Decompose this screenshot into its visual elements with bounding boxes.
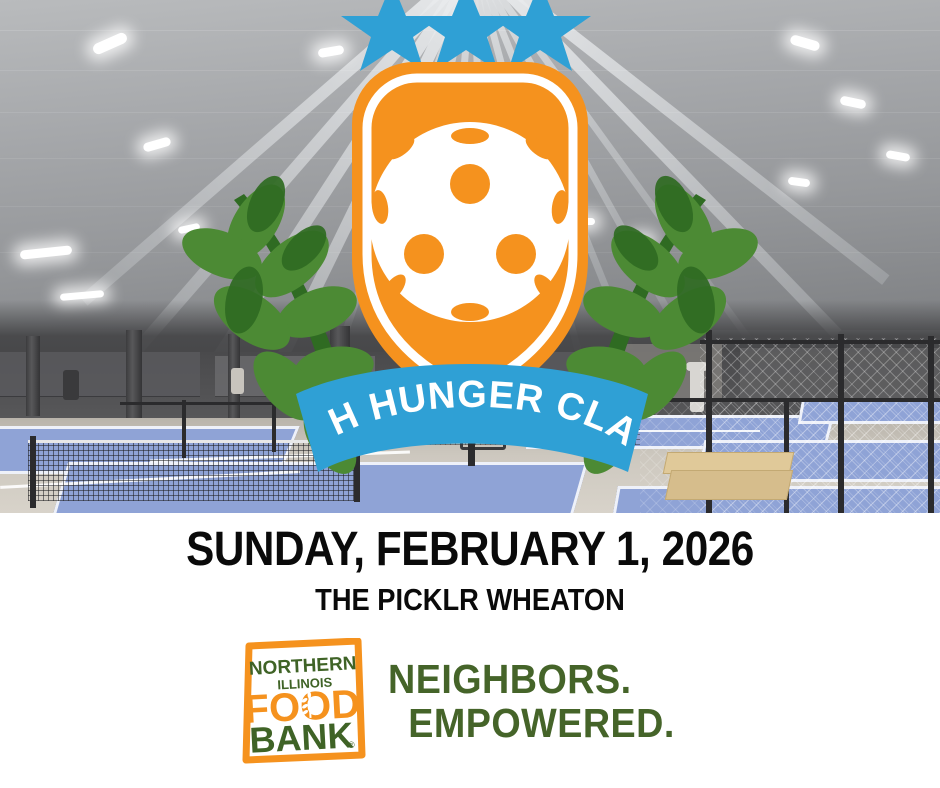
- court-net: [28, 440, 358, 501]
- person: [63, 370, 79, 400]
- bench: [665, 470, 793, 500]
- court-net: [420, 410, 640, 445]
- ceiling-light: [575, 218, 595, 225]
- northern-illinois-food-bank-logo: NORTHERN ILLINOIS FOOD: [240, 638, 366, 764]
- tagline-line-1: NEIGHBORS.: [388, 657, 675, 701]
- logo-line-bank: BANK: [248, 714, 354, 760]
- event-venue: THE PICKLR WHEATON: [56, 574, 883, 615]
- person: [231, 368, 244, 394]
- sponsor-tagline: NEIGHBORS. EMPOWERED.: [388, 657, 675, 746]
- registered-trademark-icon: ®: [348, 740, 355, 750]
- tagline-line-2: EMPOWERED.: [388, 701, 675, 745]
- event-details: SUNDAY, FEBRUARY 1, 2026 THE PICKLR WHEA…: [0, 513, 940, 788]
- event-date-headline: SUNDAY, FEBRUARY 1, 2026: [56, 513, 883, 574]
- event-flyer: SMASH HUNGER CLASSIC SUNDAY, FEBRUARY 1,…: [0, 0, 940, 788]
- ceiling-light: [634, 238, 650, 244]
- net-frame: [460, 418, 506, 450]
- ceiling: [0, 0, 940, 330]
- venue-photo: [0, 0, 940, 513]
- sponsor-row: NORTHERN ILLINOIS FOOD: [0, 638, 940, 764]
